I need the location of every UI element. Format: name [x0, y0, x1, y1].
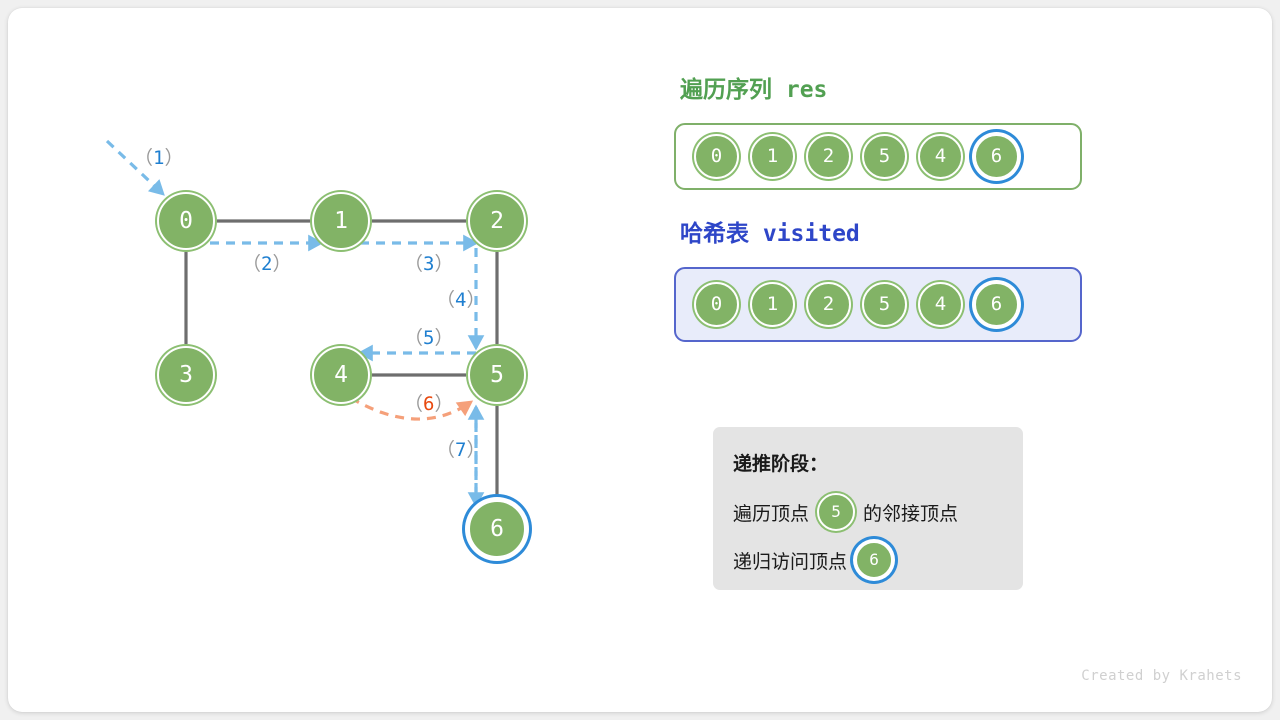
step-number-2: 2: [261, 253, 272, 275]
res-chip: 0: [694, 134, 739, 179]
visited-chip: 5: [862, 282, 907, 327]
graph-node-5[interactable]: 5: [468, 346, 526, 404]
graph-node-6[interactable]: 6: [468, 500, 526, 558]
visited-chip: 1: [750, 282, 795, 327]
info-panel: 遍历序列 res 0 1 2 5 4 6 哈希表 visited 0 1 2 5…: [648, 8, 1280, 720]
graph-node-4[interactable]: 4: [312, 346, 370, 404]
step-label-5: （5）: [404, 323, 453, 350]
explanation-node-5: 5: [817, 493, 855, 531]
step-number-5: 5: [423, 327, 434, 349]
visited-chip: 2: [806, 282, 851, 327]
screenshot-canvas: 0 1 2 3 4 5 6 （1） （2） （3） （4） （5） （6） （7…: [0, 0, 1280, 720]
explanation-line-1-suffix: 的邻接顶点: [863, 499, 958, 526]
watermark: Created by Krahets: [1081, 668, 1242, 684]
graph-node-2[interactable]: 2: [468, 192, 526, 250]
explanation-line-2-prefix: 递归访问顶点: [733, 547, 847, 574]
res-chip: 5: [862, 134, 907, 179]
res-chip: 1: [750, 134, 795, 179]
visited-tray: 0 1 2 5 4 6: [674, 267, 1082, 342]
res-tray: 0 1 2 5 4 6: [674, 123, 1082, 190]
explanation-heading: 递推阶段：: [733, 449, 1023, 476]
res-chip: 2: [806, 134, 851, 179]
step-label-3: （3）: [404, 249, 453, 276]
step-number-1: 1: [153, 147, 164, 169]
res-chip: 4: [918, 134, 963, 179]
explanation-line-2: 递归访问顶点 6: [733, 541, 1023, 579]
visited-section-title: 哈希表 visited: [680, 214, 860, 248]
explanation-line-1: 遍历顶点 5 的邻接顶点: [733, 493, 1023, 531]
step-number-4: 4: [455, 289, 466, 311]
visited-chip: 4: [918, 282, 963, 327]
step-label-7: （7）: [436, 435, 485, 462]
explanation-box: 递推阶段： 遍历顶点 5 的邻接顶点 递归访问顶点 6: [713, 427, 1023, 590]
graph-node-1[interactable]: 1: [312, 192, 370, 250]
step-label-2: （2）: [242, 249, 291, 276]
graph-node-0[interactable]: 0: [157, 192, 215, 250]
explanation-line-1-prefix: 遍历顶点: [733, 499, 809, 526]
content-card: 0 1 2 3 4 5 6 （1） （2） （3） （4） （5） （6） （7…: [8, 8, 1272, 712]
graph-diagram: 0 1 2 3 4 5 6 （1） （2） （3） （4） （5） （6） （7…: [8, 8, 648, 720]
visited-chip: 0: [694, 282, 739, 327]
res-section-title: 遍历序列 res: [680, 70, 827, 104]
step-label-1: （1）: [134, 143, 183, 170]
explanation-node-6-highlighted: 6: [855, 541, 893, 579]
step-number-7: 7: [455, 439, 466, 461]
step-label-4: （4）: [436, 285, 485, 312]
step-label-6: （6）: [404, 389, 453, 416]
res-chip-highlighted: 6: [974, 134, 1019, 179]
step-number-6: 6: [423, 393, 434, 415]
graph-node-3[interactable]: 3: [157, 346, 215, 404]
step-number-3: 3: [423, 253, 434, 275]
visited-chip-highlighted: 6: [974, 282, 1019, 327]
